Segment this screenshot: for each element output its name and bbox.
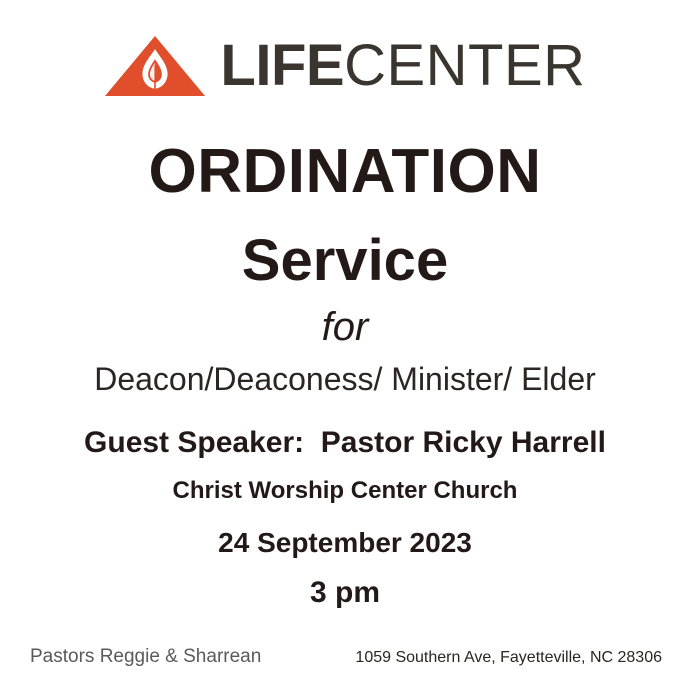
headline-for: for bbox=[0, 307, 690, 347]
footer-pastors: Pastors Reggie & Sharrean bbox=[30, 647, 261, 666]
wordmark-life: LIFE bbox=[220, 37, 344, 95]
guest-speaker-line: Guest Speaker: Pastor Ricky Harrell bbox=[0, 428, 690, 458]
event-date: 24 September 2023 bbox=[0, 529, 690, 557]
wordmark-center: CENTER bbox=[344, 37, 585, 95]
headline-roles: Deacon/Deaconess/ Minister/ Elder bbox=[0, 363, 690, 395]
event-time: 3 pm bbox=[0, 578, 690, 608]
brand-wordmark: LIFE CENTER bbox=[220, 37, 585, 95]
church-name-line: Christ Worship Center Church bbox=[0, 479, 690, 503]
footer-address: 1059 Southern Ave, Fayetteville, NC 2830… bbox=[355, 650, 662, 666]
flyer-canvas: LIFE CENTER ORDINATION Service for Deaco… bbox=[0, 0, 690, 690]
headline-ordination: ORDINATION bbox=[0, 141, 690, 203]
brand-logo-lockup: LIFE CENTER bbox=[0, 30, 690, 102]
headline-service: Service bbox=[0, 232, 690, 290]
flame-triangle-logo-icon bbox=[104, 35, 206, 97]
